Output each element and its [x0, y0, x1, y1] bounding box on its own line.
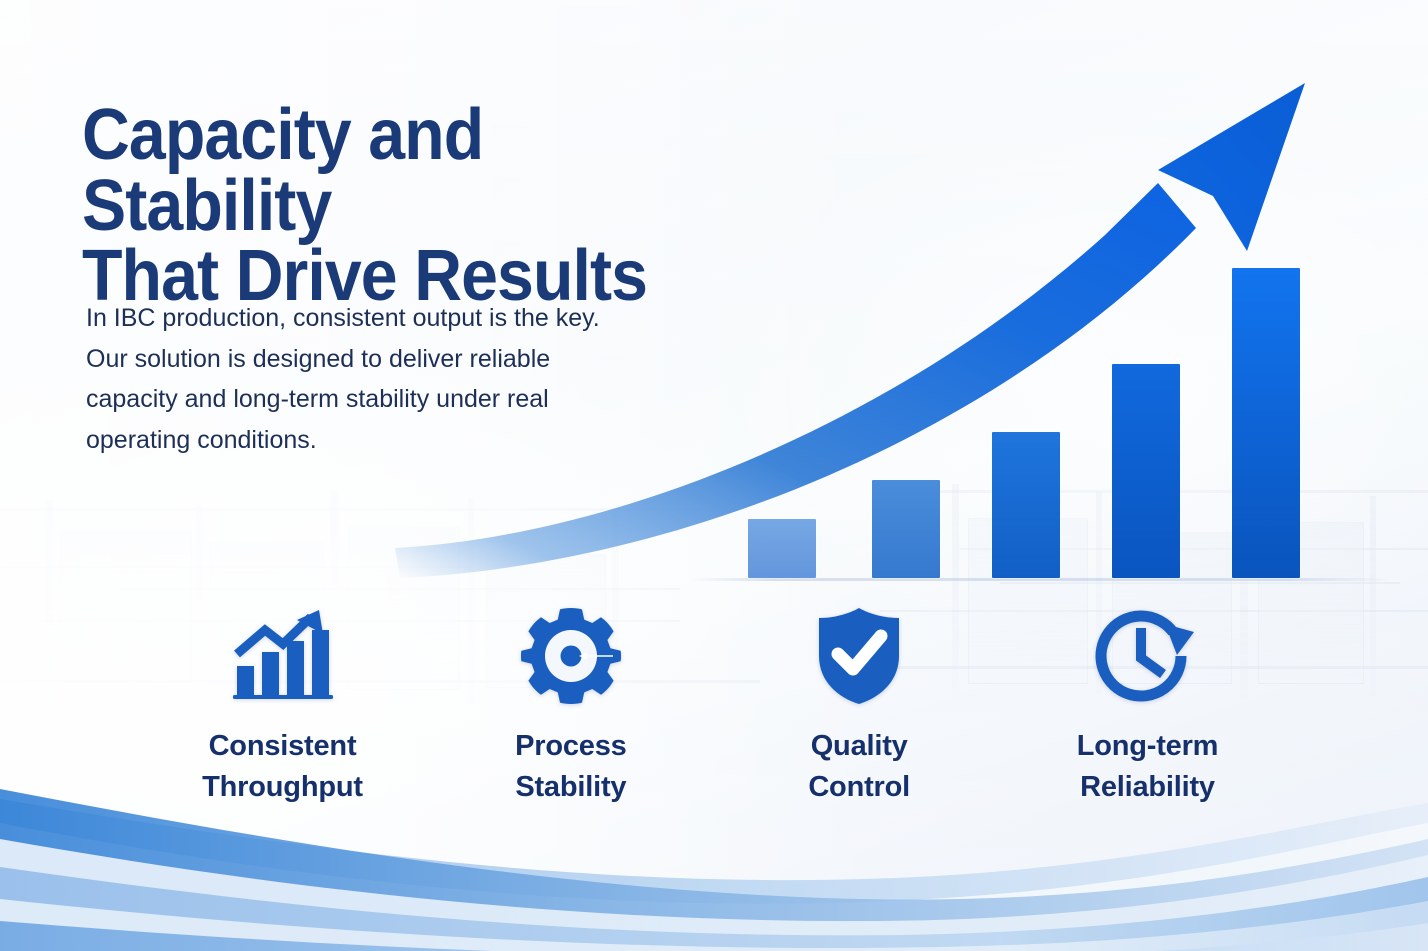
feature-label-line-2: Control: [808, 767, 910, 808]
infographic-banner: Capacity and Stability That Drive Result…: [0, 0, 1428, 951]
bar-5: [1232, 268, 1300, 578]
feature-label: Process Stability: [515, 726, 626, 808]
feature-process-stability[interactable]: Process Stability: [438, 608, 703, 808]
feature-consistent-throughput[interactable]: Consistent Throughput: [150, 608, 415, 808]
body-line-4: operating conditions.: [86, 420, 686, 461]
bar-2: [872, 480, 940, 578]
feature-label-line-1: Long-term: [1077, 726, 1219, 767]
growth-arrow-head: [1158, 83, 1305, 251]
feature-label-line-1: Process: [515, 726, 626, 767]
bar-4: [1112, 364, 1180, 578]
feature-label: Quality Control: [808, 726, 910, 808]
shield-check-icon: [813, 608, 905, 704]
chart-baseline: [690, 578, 1390, 581]
feature-label: Consistent Throughput: [202, 726, 363, 808]
bar-1: [748, 519, 816, 578]
feature-label-line-2: Reliability: [1077, 767, 1219, 808]
feature-label: Long-term Reliability: [1077, 726, 1219, 808]
body-line-2: Our solution is designed to deliver reli…: [86, 339, 686, 380]
body-line-1: In IBC production, consistent output is …: [86, 298, 686, 339]
feature-label-line-1: Quality: [808, 726, 910, 767]
body-paragraph: In IBC production, consistent output is …: [86, 298, 686, 460]
feature-long-term-reliability[interactable]: Long-term Reliability: [1015, 608, 1280, 808]
bar-chart-growth-icon: [231, 608, 335, 704]
feature-row: Consistent Throughput Process Stability: [150, 608, 1280, 808]
headline-line-1: Capacity and Stability: [82, 95, 483, 246]
body-line-3: capacity and long-term stability under r…: [86, 379, 686, 420]
feature-label-line-2: Stability: [515, 767, 626, 808]
clock-refresh-icon: [1095, 608, 1199, 704]
bar-3: [992, 432, 1060, 578]
feature-label-line-1: Consistent: [202, 726, 363, 767]
page-title: Capacity and Stability That Drive Result…: [82, 100, 744, 312]
gear-target-icon: [521, 608, 621, 704]
feature-label-line-2: Throughput: [202, 767, 363, 808]
feature-quality-control[interactable]: Quality Control: [727, 608, 992, 808]
